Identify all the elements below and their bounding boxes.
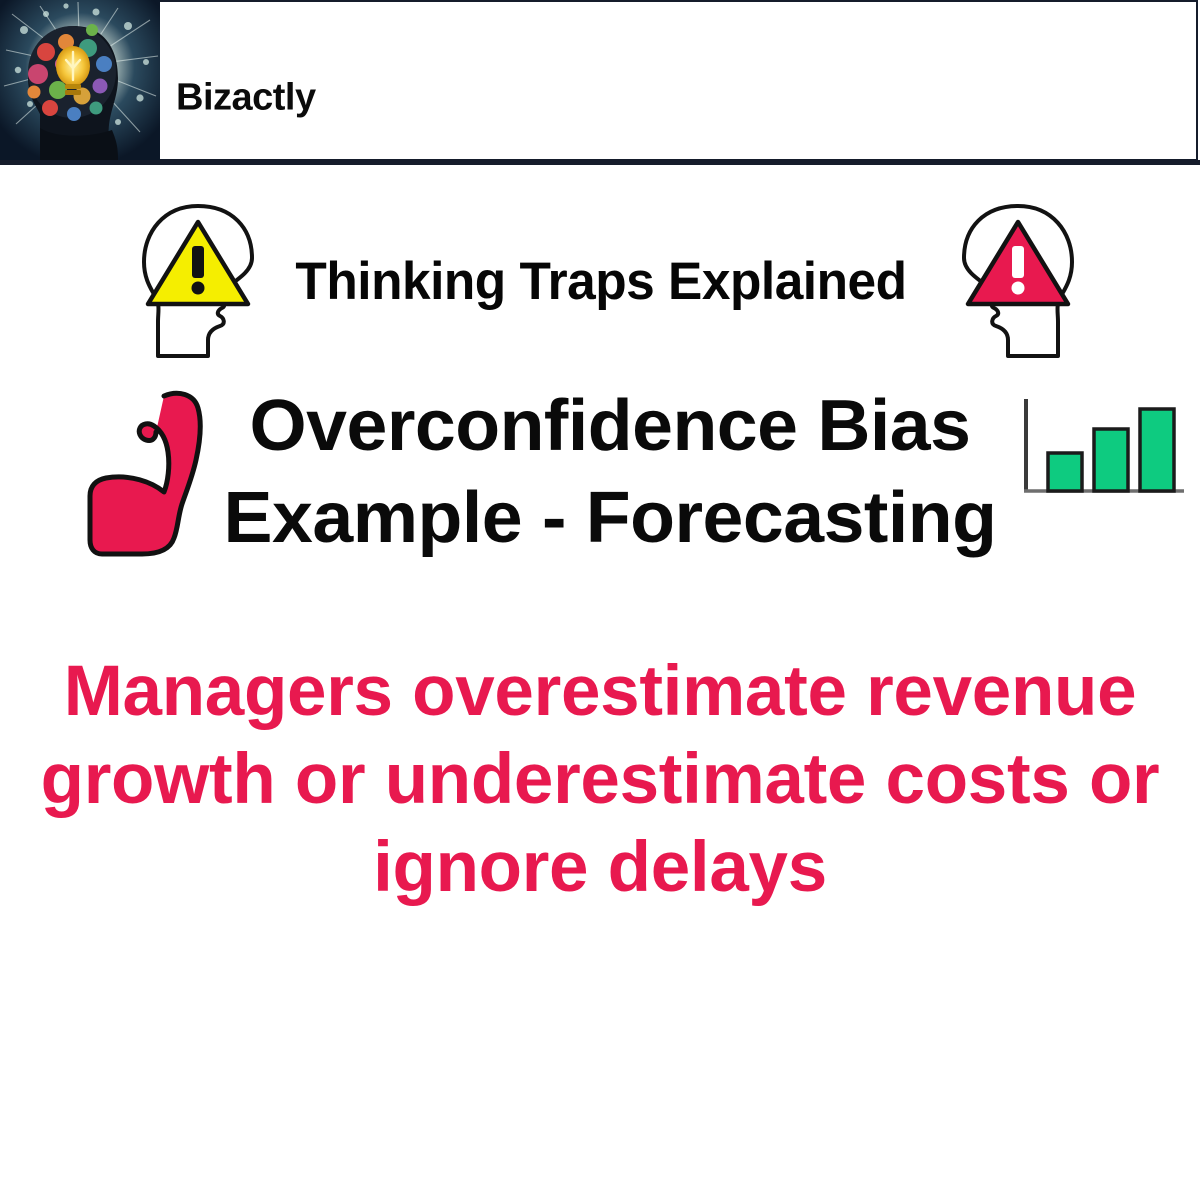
header-divider [0, 160, 1200, 165]
brand-name: Bizactly [176, 77, 316, 120]
head-warning-red-icon [930, 200, 1080, 362]
page-header: Bizactly [0, 0, 1200, 166]
statement-line-1: Managers overestimate revenue [10, 648, 1190, 736]
statement-line-3: ignore delays [10, 824, 1190, 912]
main-heading: Overconfidence Bias Example - Forecastin… [160, 380, 1060, 564]
brand-logo-image [0, 0, 160, 160]
statement-text: Managers overestimate revenue growth or … [10, 648, 1190, 912]
statement-line-2: growth or underestimate costs or [10, 736, 1190, 824]
heading-line-1: Overconfidence Bias [151, 380, 1069, 472]
subtitle-text: Thinking Traps Explained [286, 252, 917, 312]
subtitle-row: Thinking Traps Explained [0, 196, 1200, 366]
bar-chart-icon [1018, 397, 1186, 502]
heading-line-2: Example - Forecasting [151, 472, 1069, 564]
head-warning-yellow-icon [136, 200, 286, 362]
main-heading-block: Overconfidence Bias Example - Forecastin… [0, 380, 1200, 580]
